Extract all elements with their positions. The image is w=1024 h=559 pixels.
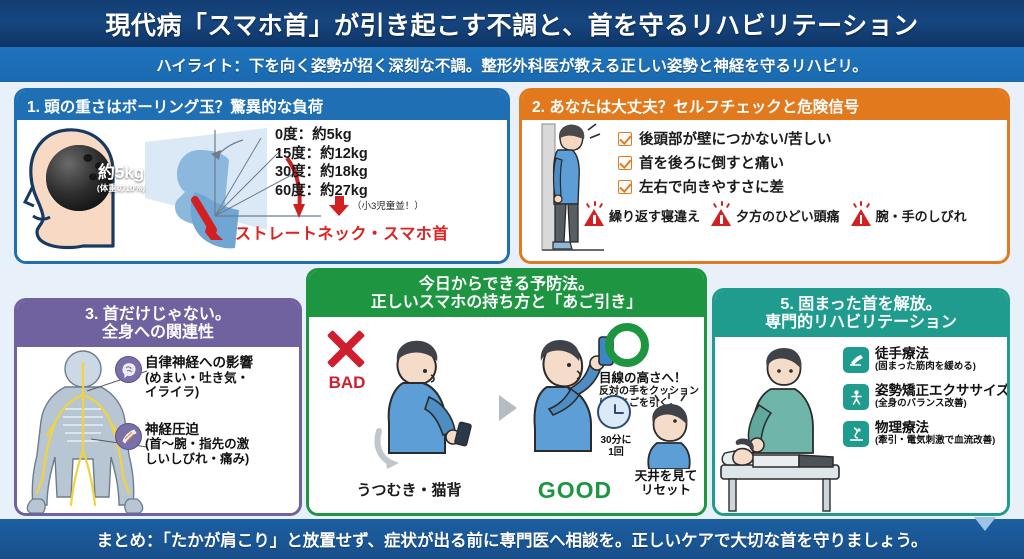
hand-therapy-icon (843, 347, 869, 373)
header-bar: 現代病「スマホ首」が引き起こす不調と、首を守るリハビリテーション (0, 0, 1024, 47)
warning-triangle-icon (711, 204, 732, 226)
rehab-heading: 物理療法 (875, 421, 995, 436)
reset-caption: 天井を見て リセット (625, 469, 707, 498)
danger-signal: 腕・手のしびれ (851, 204, 967, 226)
bad-caption: うつむき・猫背 (323, 479, 495, 500)
checkbox-icon[interactable] (618, 156, 632, 170)
pointer-triangle-icon (974, 517, 996, 531)
panel1-header: 1. 頭の重さはボーリング玉？驚異的な負荷 (17, 91, 507, 120)
rehab-item: 徒手療法 (固まった筋肉を緩める) (843, 347, 1007, 373)
summary-bar: まとめ：「たかが肩こり」と放置せず、症状が出る前に専門医へ相談を。正しいケアで大… (0, 519, 1024, 559)
physical-therapy-icon (843, 421, 869, 447)
load-row: 30度：約18kg (275, 163, 368, 182)
bad-posture-person (369, 327, 489, 477)
panel4-header: 今日からできる予防法。 正しいスマホの持ち方と「あご引き」 (309, 271, 704, 317)
panel-rehabilitation: 5. 固まった首を解放。 専門的リハビリテーション (712, 288, 1010, 516)
good-mark-label: GOOD (527, 477, 623, 504)
bad-cross-icon (323, 325, 369, 371)
panel2-body: 後頭部が壁につかない/苦しい 首を後ろに倒すと痛い 左右で向きやすさに差 繰り返… (522, 120, 1007, 261)
panel2-title: 2. あなたは大丈夫？セルフチェックと危険信号 (532, 95, 859, 117)
rehab-detail: (牽引・電気刺激で血流改善) (875, 436, 995, 447)
eye-level-heading: 目線の高さへ！ (599, 367, 707, 386)
checkbox-icon[interactable] (618, 132, 632, 146)
panel-prevention: 今日からできる予防法。 正しいスマホの持ち方と「あご引き」 BAD ••••• (306, 268, 707, 516)
panel-self-check: 2. あなたは大丈夫？セルフチェックと危険信号 (519, 88, 1010, 264)
panel4-title-line2: 正しいスマホの持ち方と「あご引き」 (371, 294, 643, 312)
symptom-heading: 自律神経への影響 (145, 355, 301, 371)
symptom-detail: (首～腕・指先の激 しいしびれ・痛み) (145, 437, 301, 466)
panel4-body: BAD ••••• (309, 317, 704, 513)
panel4-title-line1: 今日からできる予防法。 (419, 276, 594, 294)
symptom-detail: (めまい・吐き気・ イライラ) (145, 371, 301, 400)
related-symptom: 自律神経への影響 (めまい・吐き気・ イライラ) (145, 355, 301, 400)
danger-signal: 夕方のひどい頭痛 (711, 204, 840, 226)
highlight-bar: ハイライト：下を向く姿勢が招く深刻な不調。整形外科医が教える正しい姿勢と神経を守… (0, 47, 1024, 82)
rehab-item: 姿勢矯正エクササイズ (全身のバランス改善) (843, 384, 1007, 410)
panel5-header: 5. 固まった首を解放。 専門的リハビリテーション (715, 291, 1007, 337)
check-label: 後頭部が壁につかない/苦しい (639, 128, 832, 149)
danger-signal-list: 繰り返す寝違え 夕方のひどい頭痛 腕・手のしびれ (584, 204, 967, 226)
straight-neck-conclusion: ストレートネック・スマホ首 (235, 220, 449, 244)
arm-nerve-icon (115, 423, 142, 450)
clock-icon (597, 395, 631, 429)
panel5-body: 徒手療法 (固まった筋肉を緩める) 姿勢矯正エクササイズ (全身のバランス改善) (715, 337, 1007, 513)
look-up-person (639, 393, 701, 469)
warning-triangle-icon (584, 204, 605, 226)
angle-load-list: 0度：約5kg 15度：約12kg 30度：約18kg 60度：約27kg (275, 126, 368, 200)
rehab-item: 物理療法 (牽引・電気刺激で血流改善) (843, 421, 1007, 447)
check-label: 左右で向きやすさに差 (639, 176, 784, 197)
page-title: 現代病「スマホ首」が引き起こす不調と、首を守るリハビリテーション (105, 6, 918, 42)
related-symptom: 神経圧迫 (首～腕・指先の激 しいしびれ・痛み) (145, 422, 301, 467)
check-label: 首を後ろに倒すと痛い (639, 152, 784, 173)
panel3-body: 自律神経への影響 (めまい・吐き気・ イライラ) 神経圧迫 (首～腕・指先の激 … (17, 347, 299, 513)
panel1-body: 約5kg (体重の10%) 0度：約5kg 15度：約12kg 30度：約18k… (17, 120, 507, 261)
check-item[interactable]: 首を後ろに倒すと痛い (618, 152, 832, 173)
good-circle-icon (605, 323, 649, 367)
rehab-item-list: 徒手療法 (固まった筋肉を緩める) 姿勢矯正エクササイズ (全身のバランス改善) (843, 347, 1007, 458)
danger-signal: 繰り返す寝違え (584, 204, 700, 226)
checkbox-icon[interactable] (618, 180, 632, 194)
panel3-header: 3. 首だけじゃない。 全身への関連性 (17, 301, 299, 347)
panel-whole-body: 3. 首だけじゃない。 全身への関連性 (14, 298, 302, 516)
wall-posture-illustration (530, 120, 620, 261)
related-symptom-list: 自律神経への影響 (めまい・吐き気・ イライラ) 神経圧迫 (首～腕・指先の激 … (145, 355, 301, 475)
head-nerve-icon (115, 356, 142, 383)
panel5-title-line2: 専門的リハビリテーション (765, 314, 957, 332)
check-item[interactable]: 左右で向きやすさに差 (618, 176, 832, 197)
bad-mark-label: BAD (321, 373, 373, 393)
panel1-title: 1. 頭の重さはボーリング玉？驚異的な負荷 (27, 95, 323, 117)
exercise-person-icon (843, 384, 869, 410)
danger-label: 腕・手のしびれ (876, 206, 967, 225)
highlight-text: ハイライト：下を向く姿勢が招く深刻な不調。整形外科医が教える正しい姿勢と神経を守… (156, 54, 868, 76)
self-check-list: 後頭部が壁につかない/苦しい 首を後ろに倒すと痛い 左右で向きやすさに差 (618, 128, 832, 200)
rehab-heading: 徒手療法 (875, 347, 976, 362)
reset-frequency: 30分に 1回 (589, 435, 643, 458)
symptom-heading: 神経圧迫 (145, 422, 301, 438)
therapy-illustration (719, 341, 847, 516)
summary-text: まとめ：「たかが肩こり」と放置せず、症状が出る前に専門医へ相談を。正しいケアで大… (96, 527, 927, 551)
transition-arrow-icon (499, 395, 517, 421)
warning-triangle-icon (851, 204, 872, 226)
danger-label: 夕方のひどい頭痛 (736, 206, 840, 225)
panel-head-weight: 1. 頭の重さはボーリング玉？驚異的な負荷 (14, 88, 510, 264)
panel3-title-line1: 3. 首だけじゃない。 (85, 306, 231, 324)
rehab-detail: (全身のバランス改善) (875, 399, 1010, 410)
danger-label: 繰り返す寝違え (609, 206, 700, 225)
panel3-title-line2: 全身への関連性 (102, 324, 214, 342)
load-row: 15度：約12kg (275, 145, 368, 164)
rehab-heading: 姿勢矯正エクササイズ (875, 384, 1010, 399)
panel2-header: 2. あなたは大丈夫？セルフチェックと危険信号 (522, 91, 1007, 120)
load-row: 0度：約5kg (275, 126, 368, 145)
check-item[interactable]: 後頭部が壁につかない/苦しい (618, 128, 832, 149)
rehab-detail: (固まった筋肉を緩める) (875, 362, 976, 373)
panel5-title-line1: 5. 固まった首を解放。 (780, 296, 941, 314)
load-small-note: （小3児童並！） (352, 198, 424, 212)
